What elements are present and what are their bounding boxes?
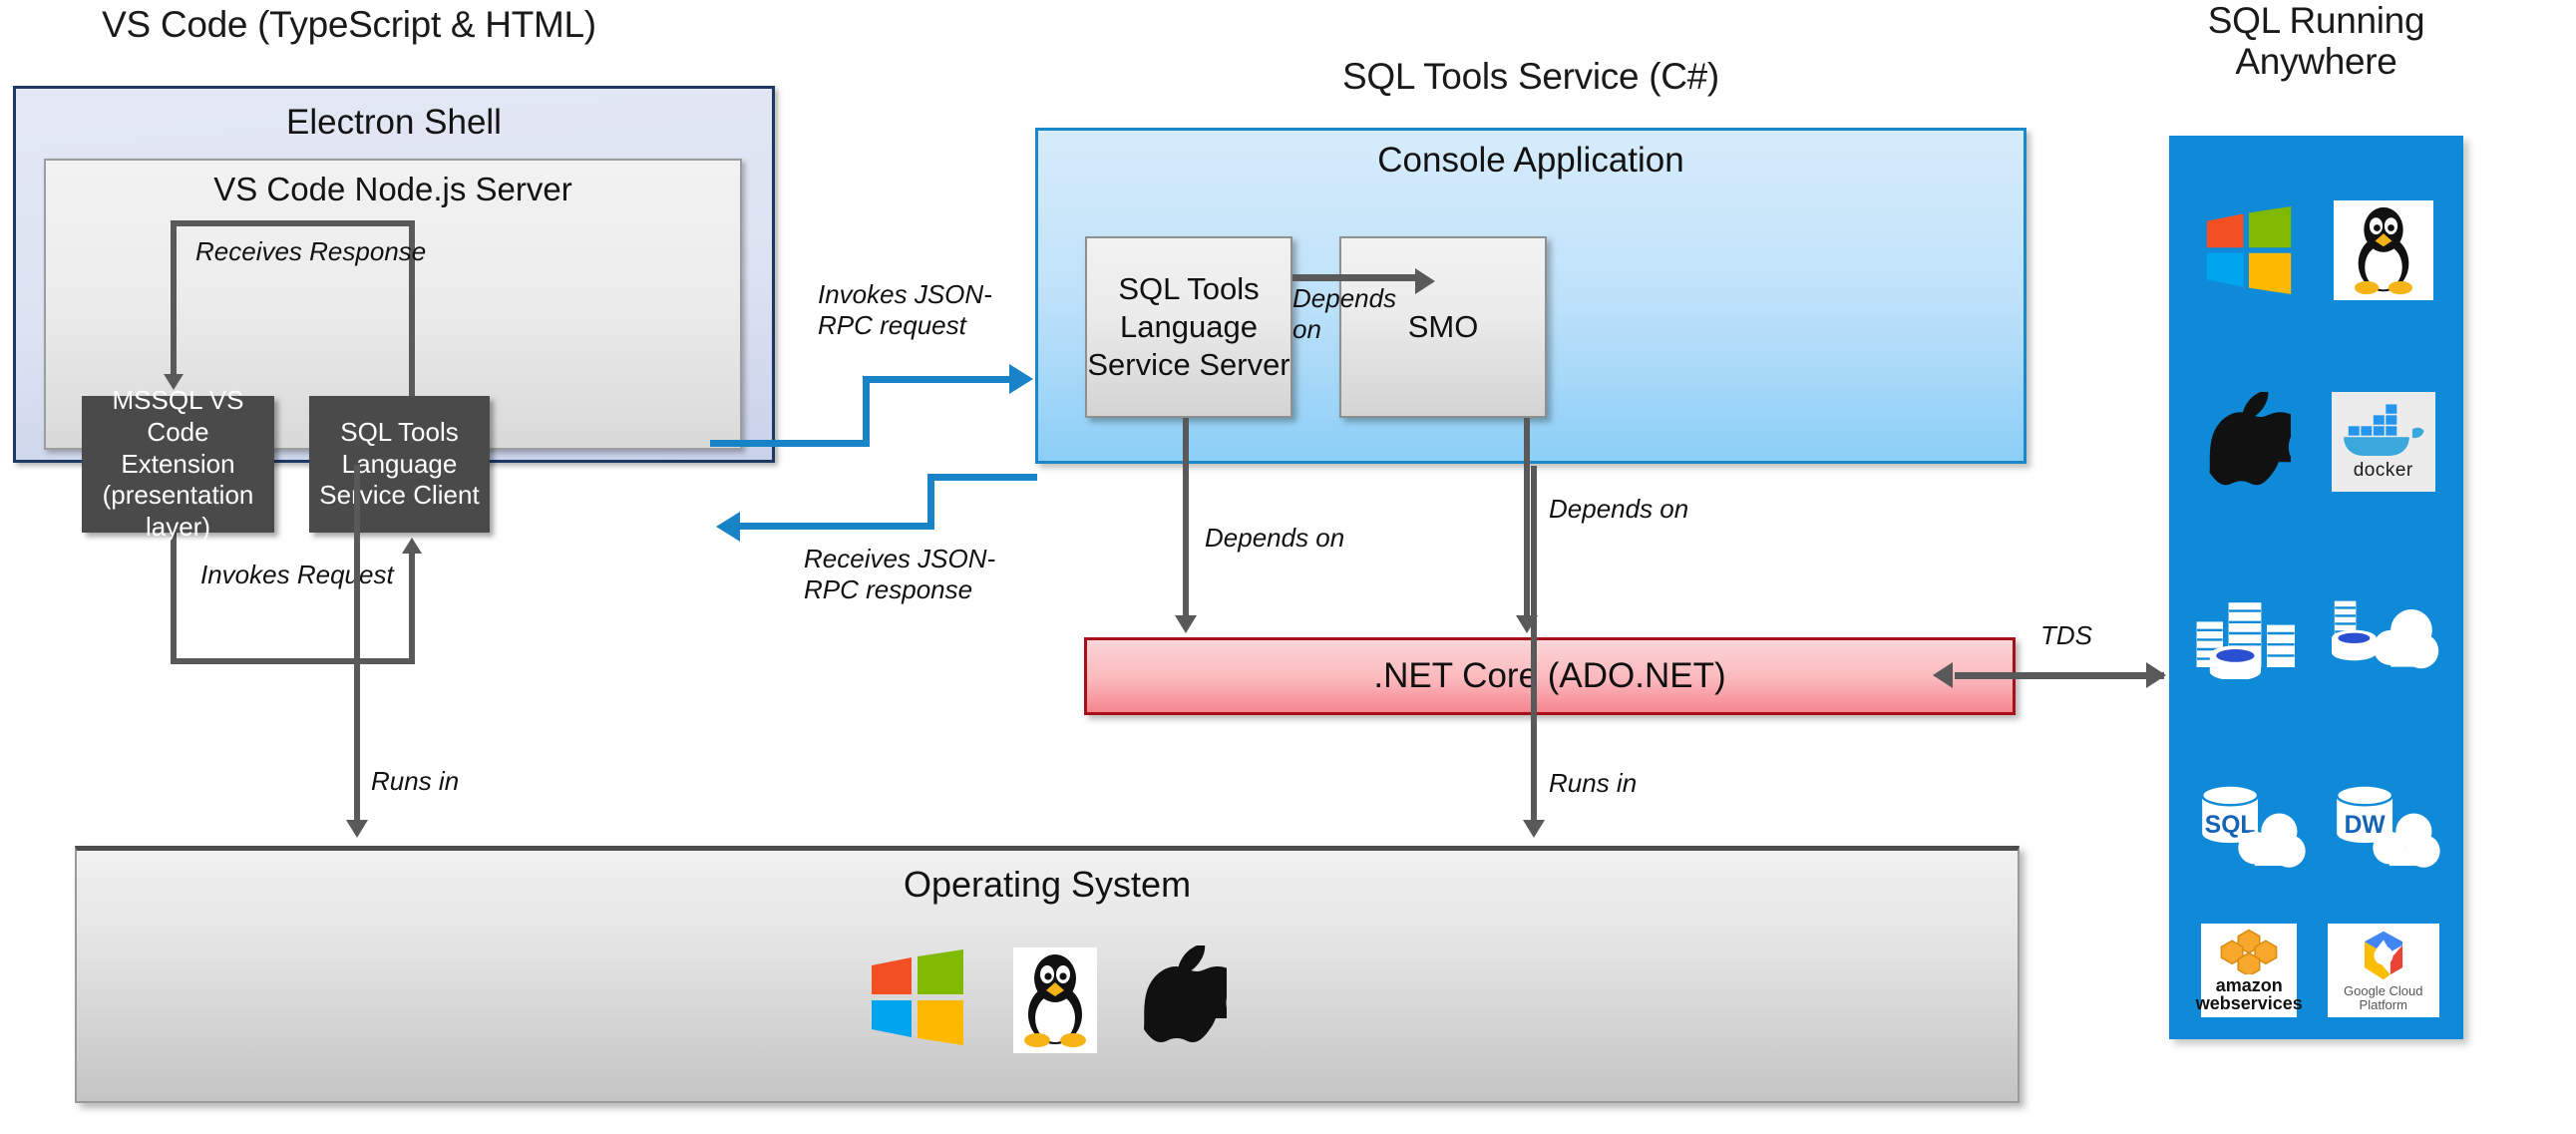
depends-on-smo-arrowhead [1415,268,1435,294]
label-depends-on-dotnet-left: Depends on [1205,523,1344,554]
invokes-request-arrow-right [409,554,415,664]
sql-tools-language-service-server-box: SQL Tools Language Service Server [1085,236,1292,418]
caption-vs-code: VS Code (TypeScript & HTML) [0,4,698,45]
apple-logo-icon [2207,392,2291,492]
private-cloud-database-icon [2324,587,2443,679]
tds-arrowhead-left [1933,662,1953,688]
electron-shell-title: Electron Shell [16,103,772,143]
linux-tux-icon [2334,200,2433,300]
operating-system-container: Operating System [75,846,2020,1103]
json-rpc-response-segment-1 [927,474,1037,481]
invokes-request-arrow-left [171,533,177,664]
tds-line [1955,672,2164,679]
label-runs-in-console: Runs in [1549,768,1637,799]
operating-system-logo-row [77,945,2018,1054]
aws-logo-label: amazon webservices [2196,976,2303,1013]
label-receives-json-rpc-response: Receives JSON- RPC response [804,544,1053,604]
receives-response-arrow-top [171,220,415,226]
dotnet-core-ado-net-box: .NET Core (ADO.NET) [1084,637,2016,715]
label-receives-response: Receives Response [195,236,426,267]
json-rpc-request-segment-3 [863,376,1010,383]
caption-sql-running-anywhere: SQL Running Anywhere [2154,0,2478,83]
console-runs-in-line [1531,466,1537,822]
sql-tools-language-service-client-box: SQL Tools Language Service Client [309,396,490,533]
diagram-canvas: VS Code (TypeScript & HTML) SQL Tools Se… [0,0,2576,1134]
json-rpc-request-segment-1 [710,440,870,447]
json-rpc-response-arrowhead [716,512,740,542]
label-tds: TDS [2040,620,2092,651]
apple-logo-icon [1143,945,1227,1054]
caption-sql-tools-service: SQL Tools Service (C#) [1082,56,1980,97]
azure-sql-database-icon: SQL [2187,779,2311,871]
json-rpc-response-segment-3 [740,523,934,530]
label-depends-on-dotnet-right: Depends on [1549,494,1688,525]
depends-on-dotnet-left-arrowhead [1175,615,1197,633]
invokes-request-arrowhead [402,538,422,554]
depends-on-dotnet-right-line [1524,418,1530,617]
label-depends-on-smo: Depends on [1292,283,1412,344]
windows-logo-icon [868,949,967,1050]
json-rpc-request-arrowhead [1009,364,1033,394]
label-runs-in-vscode: Runs in [371,766,459,797]
docker-logo-label: docker [2354,460,2413,482]
electron-shell-container: Electron Shell VS Code Node.js Server Re… [13,86,775,463]
sql-running-anywhere-panel: docker [2169,136,2463,1039]
vs-code-nodejs-server-title: VS Code Node.js Server [46,171,740,208]
label-invokes-request: Invokes Request [200,560,394,590]
on-premises-datacenter-icon [2189,587,2309,679]
json-rpc-response-segment-2 [927,474,934,529]
windows-logo-icon [2203,206,2295,294]
depends-on-dotnet-left-line [1183,418,1189,617]
vs-code-nodejs-server-container: VS Code Node.js Server Receives Response… [44,159,742,450]
depends-on-smo-line [1292,274,1416,281]
azure-sql-data-warehouse-icon: DW [2322,779,2445,871]
invokes-request-arrow-bottom [171,658,415,664]
tds-arrowhead-right [2146,662,2166,688]
operating-system-title: Operating System [77,864,2018,906]
vscode-runs-in-line [354,465,360,822]
google-cloud-platform-logo-icon: Google Cloud Platform [2328,924,2439,1017]
vscode-runs-in-arrowhead [346,820,368,838]
json-rpc-request-segment-2 [863,376,870,447]
console-application-title: Console Application [1038,141,2024,181]
docker-logo-icon: docker [2332,392,2435,492]
console-runs-in-arrowhead [1523,820,1545,838]
mssql-vs-code-extension-box: MSSQL VS Code Extension (presentation la… [82,396,274,533]
gcp-logo-label: Google Cloud Platform [2328,984,2439,1011]
linux-tux-icon [1013,947,1097,1053]
label-invokes-json-rpc-request-text: Invokes JSON- RPC request [818,279,1057,340]
amazon-web-services-logo-icon: amazon webservices [2201,924,2297,1017]
receives-response-arrow-left [171,220,177,378]
